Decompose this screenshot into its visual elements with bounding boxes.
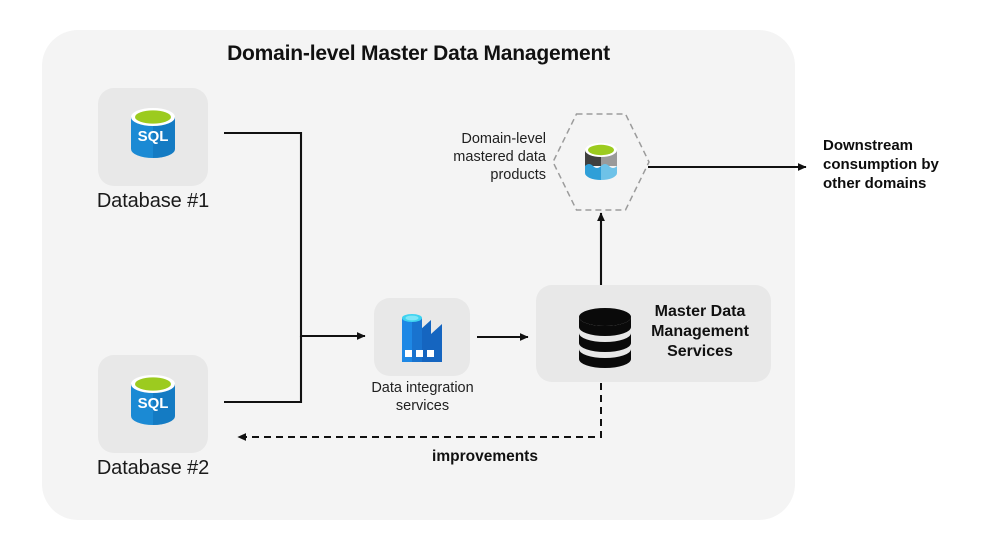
improvements-label: improvements: [385, 448, 585, 466]
data-products-label-line-1: Domain-level: [398, 130, 546, 148]
sql-icon-text: SQL: [138, 395, 169, 412]
downstream-label-line-1: Downstream: [823, 136, 993, 155]
connector-db1-to-integration: [224, 133, 365, 336]
data-factory-icon: [374, 298, 470, 376]
stacked-database-icon: [560, 285, 650, 382]
data-product-cylinder-icon: [585, 143, 617, 180]
data-products-label-line-3: products: [398, 166, 546, 184]
sql-icon-text: SQL: [138, 128, 169, 145]
mdm-services-tile[interactable]: Master Data Management Services: [536, 285, 771, 382]
downstream-label-line-2: consumption by: [823, 155, 993, 174]
diagram-canvas: Domain-level Master Data Management: [0, 0, 1000, 554]
database-2-label: Database #2: [78, 457, 228, 480]
data-integration-tile[interactable]: [374, 298, 470, 376]
database-2-tile[interactable]: SQL: [98, 355, 208, 453]
data-integration-label-line-1: Data integration: [345, 379, 500, 397]
sql-database-icon: SQL: [98, 355, 208, 453]
downstream-label-line-3: other domains: [823, 174, 993, 193]
data-products-label-line-2: mastered data: [398, 148, 546, 166]
mdm-services-label-line-2: Management: [640, 322, 760, 342]
database-1-label: Database #1: [78, 190, 228, 213]
data-integration-label-line-2: services: [345, 397, 500, 415]
connector-db2-to-integration: [224, 336, 301, 402]
sql-database-icon: SQL: [98, 88, 208, 186]
data-products-hexagon[interactable]: [552, 112, 650, 212]
mdm-services-label-line-3: Services: [640, 342, 760, 362]
database-1-tile[interactable]: SQL: [98, 88, 208, 186]
mdm-services-label-line-1: Master Data: [640, 302, 760, 322]
